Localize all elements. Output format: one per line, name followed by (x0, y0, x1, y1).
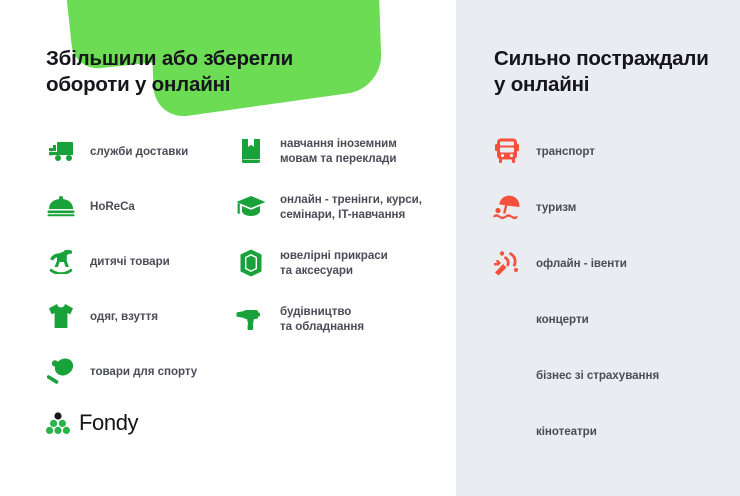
list-item[interactable]: служби доставки (46, 136, 221, 166)
fondy-logo[interactable]: Fondy (46, 410, 138, 436)
graduation-cap-icon (236, 192, 266, 222)
list-item-label: концерти (536, 312, 589, 327)
list-item-label: навчання іноземним мовам та переклади (280, 136, 397, 166)
list-item-label: будівництво та обладнання (280, 304, 364, 334)
list-item[interactable]: дитячі товари (46, 246, 221, 276)
list-item[interactable]: туризм (492, 192, 722, 222)
ping-pong-paddle-icon (46, 356, 76, 386)
list-item[interactable]: ювелірні прикраси та аксесуари (236, 248, 436, 278)
tshirt-icon (46, 301, 76, 331)
list-item[interactable]: товари для спорту (46, 356, 221, 386)
left-column-two: навчання іноземним мовам та переклади он… (236, 136, 436, 360)
list-item-label: товари для спорту (90, 364, 197, 379)
list-item-label: служби доставки (90, 144, 188, 159)
list-item-label: одяг, взуття (90, 309, 158, 324)
gemstone-icon (236, 248, 266, 278)
list-item-label: кінотеатри (536, 424, 597, 439)
list-item-label: транспорт (536, 144, 595, 159)
delivery-truck-icon (46, 136, 76, 166)
list-item[interactable]: офлайн - івенти (492, 248, 722, 278)
beach-umbrella-icon (492, 192, 522, 222)
left-section-title: Збільшили або зберегли обороти у онлайні (46, 46, 426, 98)
fondy-logo-text: Fondy (79, 410, 138, 436)
list-item[interactable]: HoReCa (46, 191, 221, 221)
list-item[interactable]: навчання іноземним мовам та переклади (236, 136, 436, 166)
list-item-label: бізнес зі страхування (536, 368, 659, 383)
list-item-label: туризм (536, 200, 576, 215)
list-item-label: офлайн - івенти (536, 256, 627, 271)
bus-icon (492, 136, 522, 166)
list-item[interactable]: бізнес зі страхування (492, 360, 722, 390)
list-item[interactable]: будівництво та обладнання (236, 304, 436, 334)
rocking-horse-icon (46, 246, 76, 276)
food-cloche-icon (46, 191, 76, 221)
list-item[interactable]: концерти (492, 304, 722, 334)
list-item[interactable]: одяг, взуття (46, 301, 221, 331)
book-icon (236, 136, 266, 166)
left-column-one: служби доставки HoReCa (46, 136, 221, 411)
fondy-dots-logo-icon (46, 412, 70, 434)
list-item[interactable]: кінотеатри (492, 416, 722, 446)
list-item-label: дитячі товари (90, 254, 170, 269)
power-drill-icon (236, 304, 266, 334)
list-item-label: ювелірні прикраси та аксесуари (280, 248, 388, 278)
list-item[interactable]: онлайн - тренінги, курси, семінари, IT-н… (236, 192, 436, 222)
slide-canvas: Збільшили або зберегли обороти у онлайні… (0, 0, 740, 496)
right-column-list: транспорт туризм (492, 136, 722, 472)
list-item-label: онлайн - тренінги, курси, семінари, IT-н… (280, 192, 422, 222)
right-section-title: Сильно постраждали у онлайні (494, 46, 734, 98)
fireworks-icon (492, 248, 522, 278)
list-item-label: HoReCa (90, 199, 135, 214)
list-item[interactable]: транспорт (492, 136, 722, 166)
